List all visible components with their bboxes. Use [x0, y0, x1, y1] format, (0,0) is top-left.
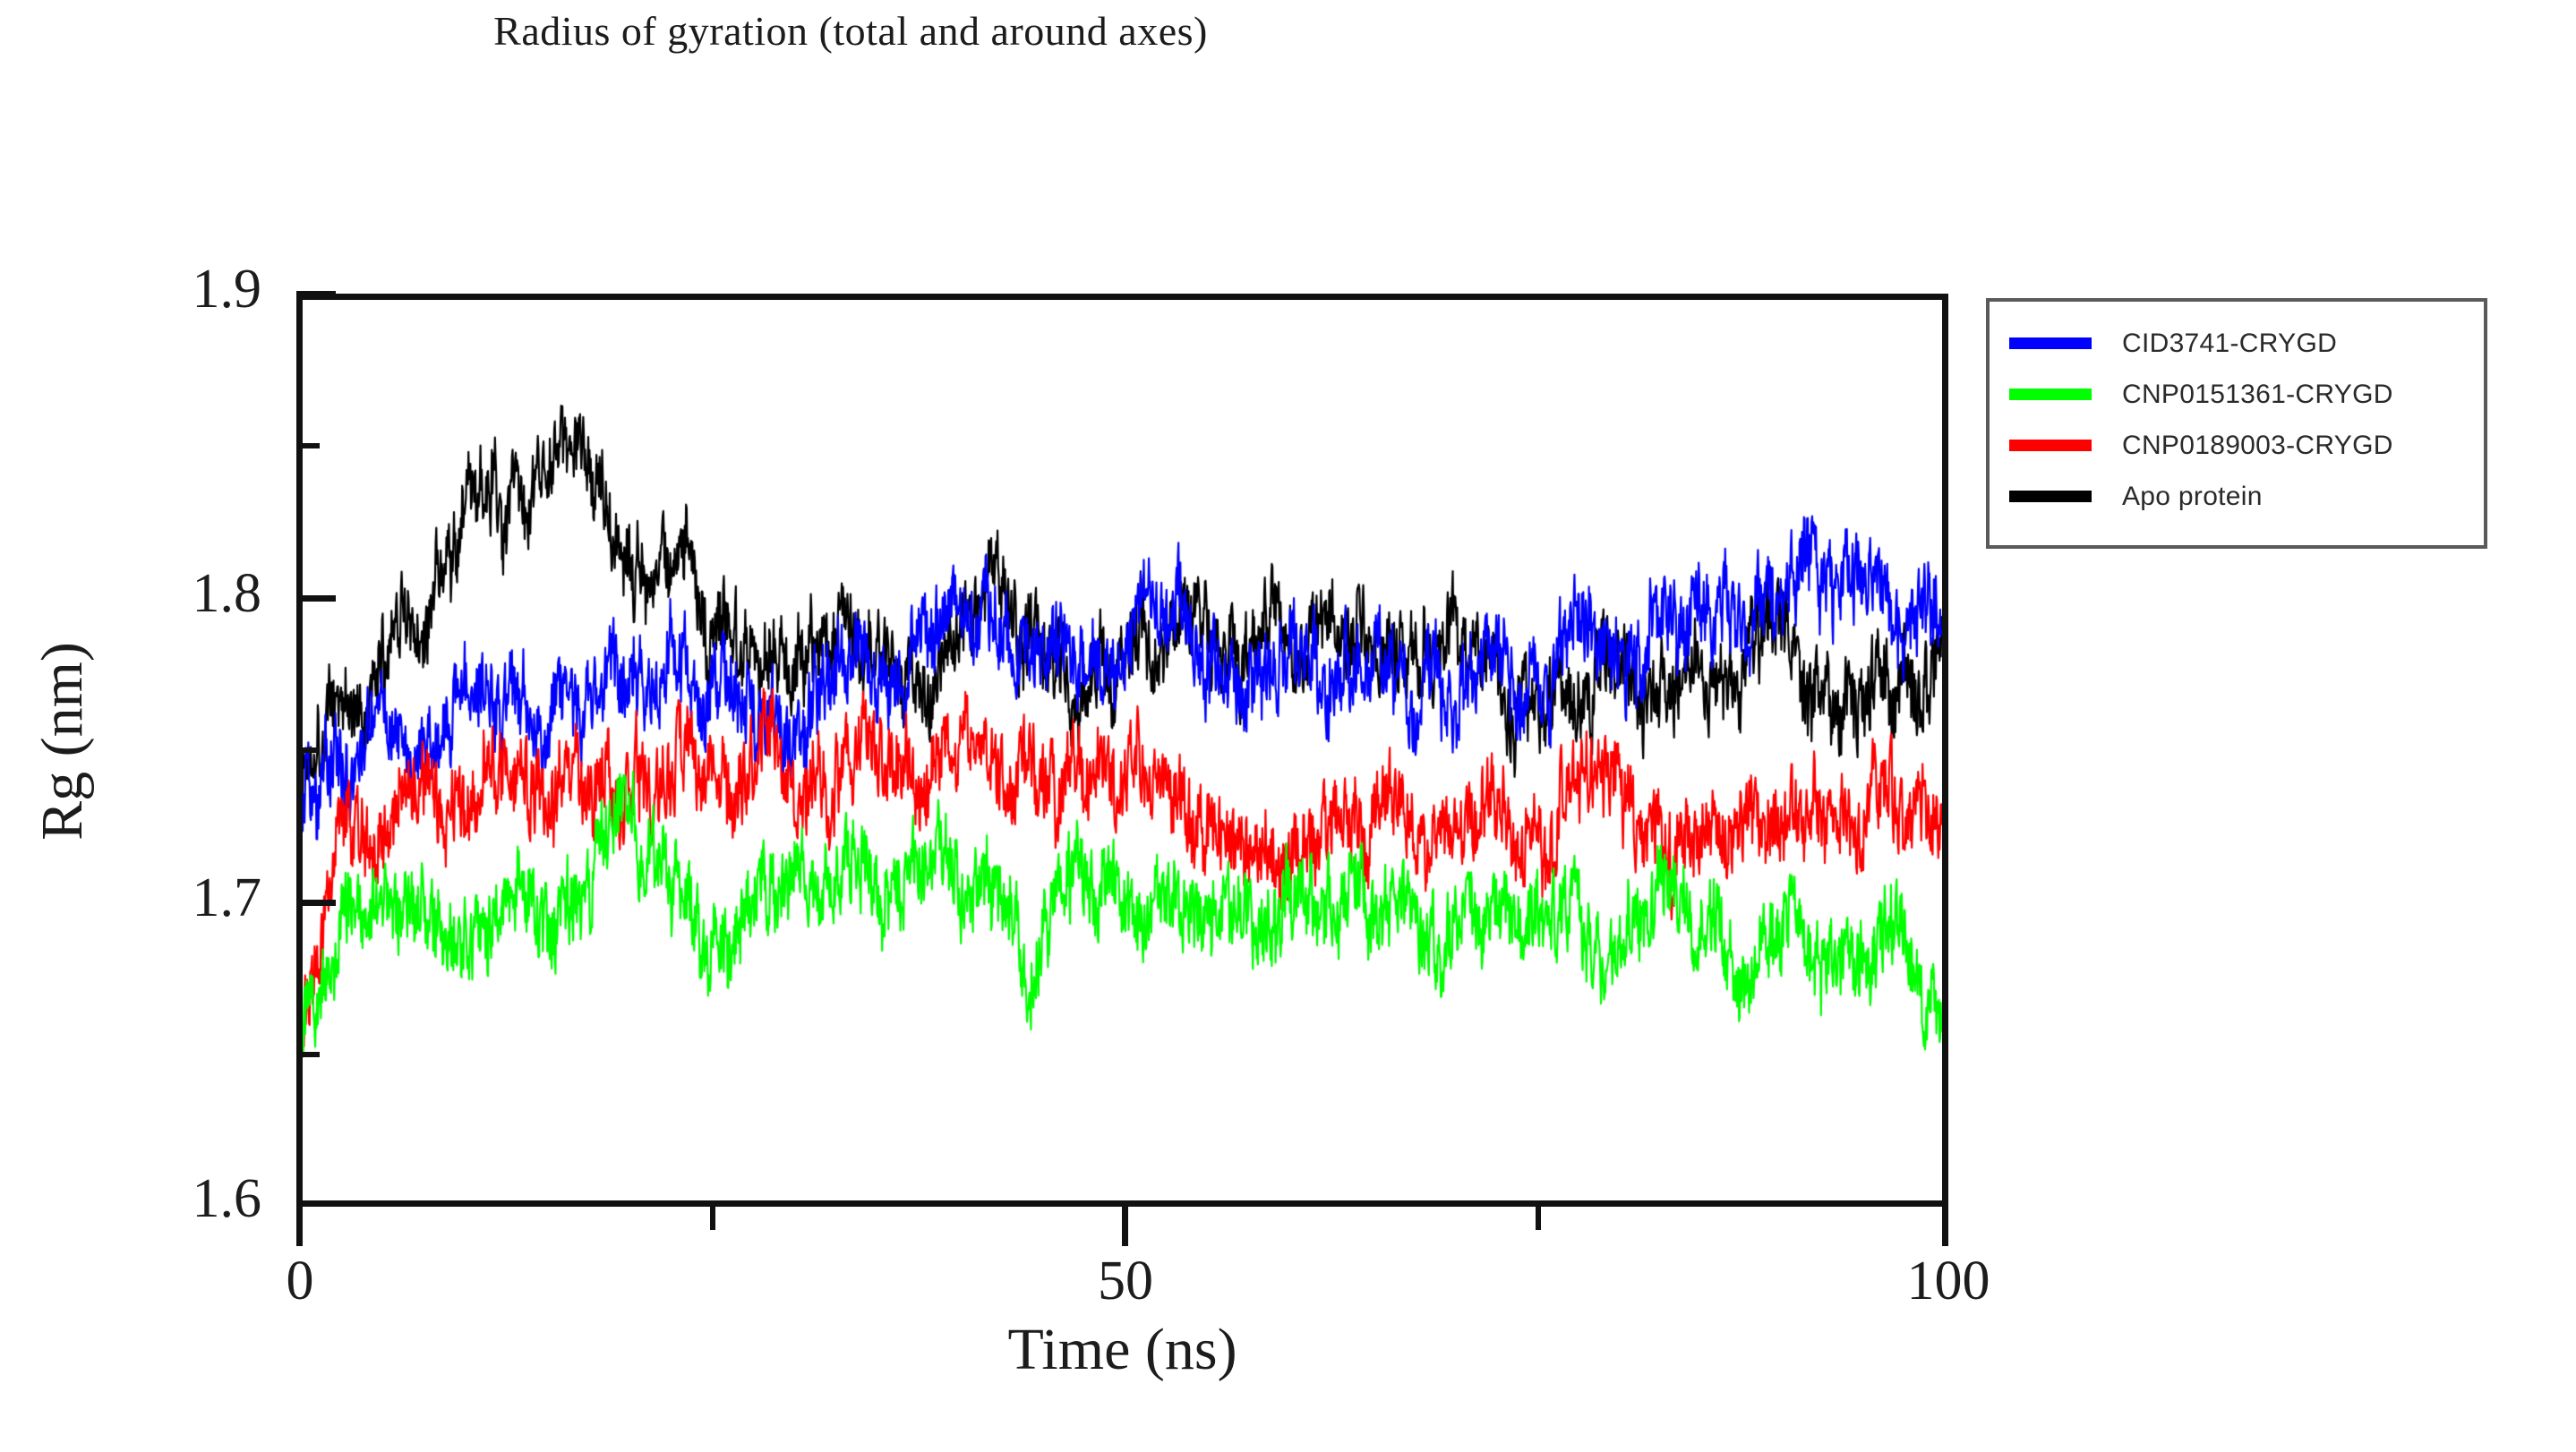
legend-label-apo-protein: Apo protein	[2122, 482, 2263, 512]
x-tick-label-100: 100	[1859, 1250, 2038, 1313]
legend-item-apo-protein: Apo protein	[1990, 471, 2484, 522]
x-tick-minor-25	[710, 1207, 715, 1230]
legend-swatch-apo-protein	[2009, 491, 2092, 502]
x-tick-label-0: 0	[210, 1250, 389, 1313]
plot-area	[296, 294, 1948, 1207]
y-tick-minor-1.85	[296, 443, 320, 448]
y-tick-1.6	[296, 1200, 336, 1207]
x-tick-label-50: 50	[1036, 1250, 1215, 1313]
y-tick-label-1.7: 1.7	[193, 867, 262, 930]
x-axis-title: Time (ns)	[296, 1316, 1948, 1384]
x-tick-0	[296, 1207, 303, 1246]
y-tick-1.9	[296, 291, 336, 297]
legend-item-cnp0151361: CNP0151361-CRYGD	[1990, 369, 2484, 420]
legend-swatch-cnp0151361	[2009, 389, 2092, 400]
legend-label-cnp0151361: CNP0151361-CRYGD	[2122, 380, 2393, 410]
legend-swatch-cnp0189003	[2009, 440, 2092, 451]
legend: CID3741-CRYGD CNP0151361-CRYGD CNP018900…	[1986, 298, 2487, 549]
y-tick-minor-1.65	[296, 1052, 320, 1057]
y-tick-label-1.6: 1.6	[193, 1167, 262, 1231]
x-tick-50	[1122, 1207, 1128, 1246]
chart-title: Radius of gyration (total and around axe…	[0, 7, 1701, 55]
y-tick-label-1.8: 1.8	[193, 562, 262, 626]
y-axis-title: Rg (nm)	[29, 383, 97, 1099]
legend-label-cnp0189003: CNP0189003-CRYGD	[2122, 431, 2393, 461]
x-tick-minor-75	[1536, 1207, 1541, 1230]
legend-swatch-cid3741	[2009, 337, 2092, 349]
legend-item-cid3741: CID3741-CRYGD	[1990, 318, 2484, 369]
plot-canvas	[303, 300, 1942, 1200]
y-tick-1.7	[296, 900, 336, 906]
y-tick-label-1.9: 1.9	[193, 258, 262, 321]
y-tick-minor-1.75	[296, 747, 320, 753]
legend-item-cnp0189003: CNP0189003-CRYGD	[1990, 420, 2484, 471]
y-tick-1.8	[296, 595, 336, 602]
legend-label-cid3741: CID3741-CRYGD	[2122, 329, 2337, 359]
x-tick-100	[1942, 1207, 1948, 1246]
